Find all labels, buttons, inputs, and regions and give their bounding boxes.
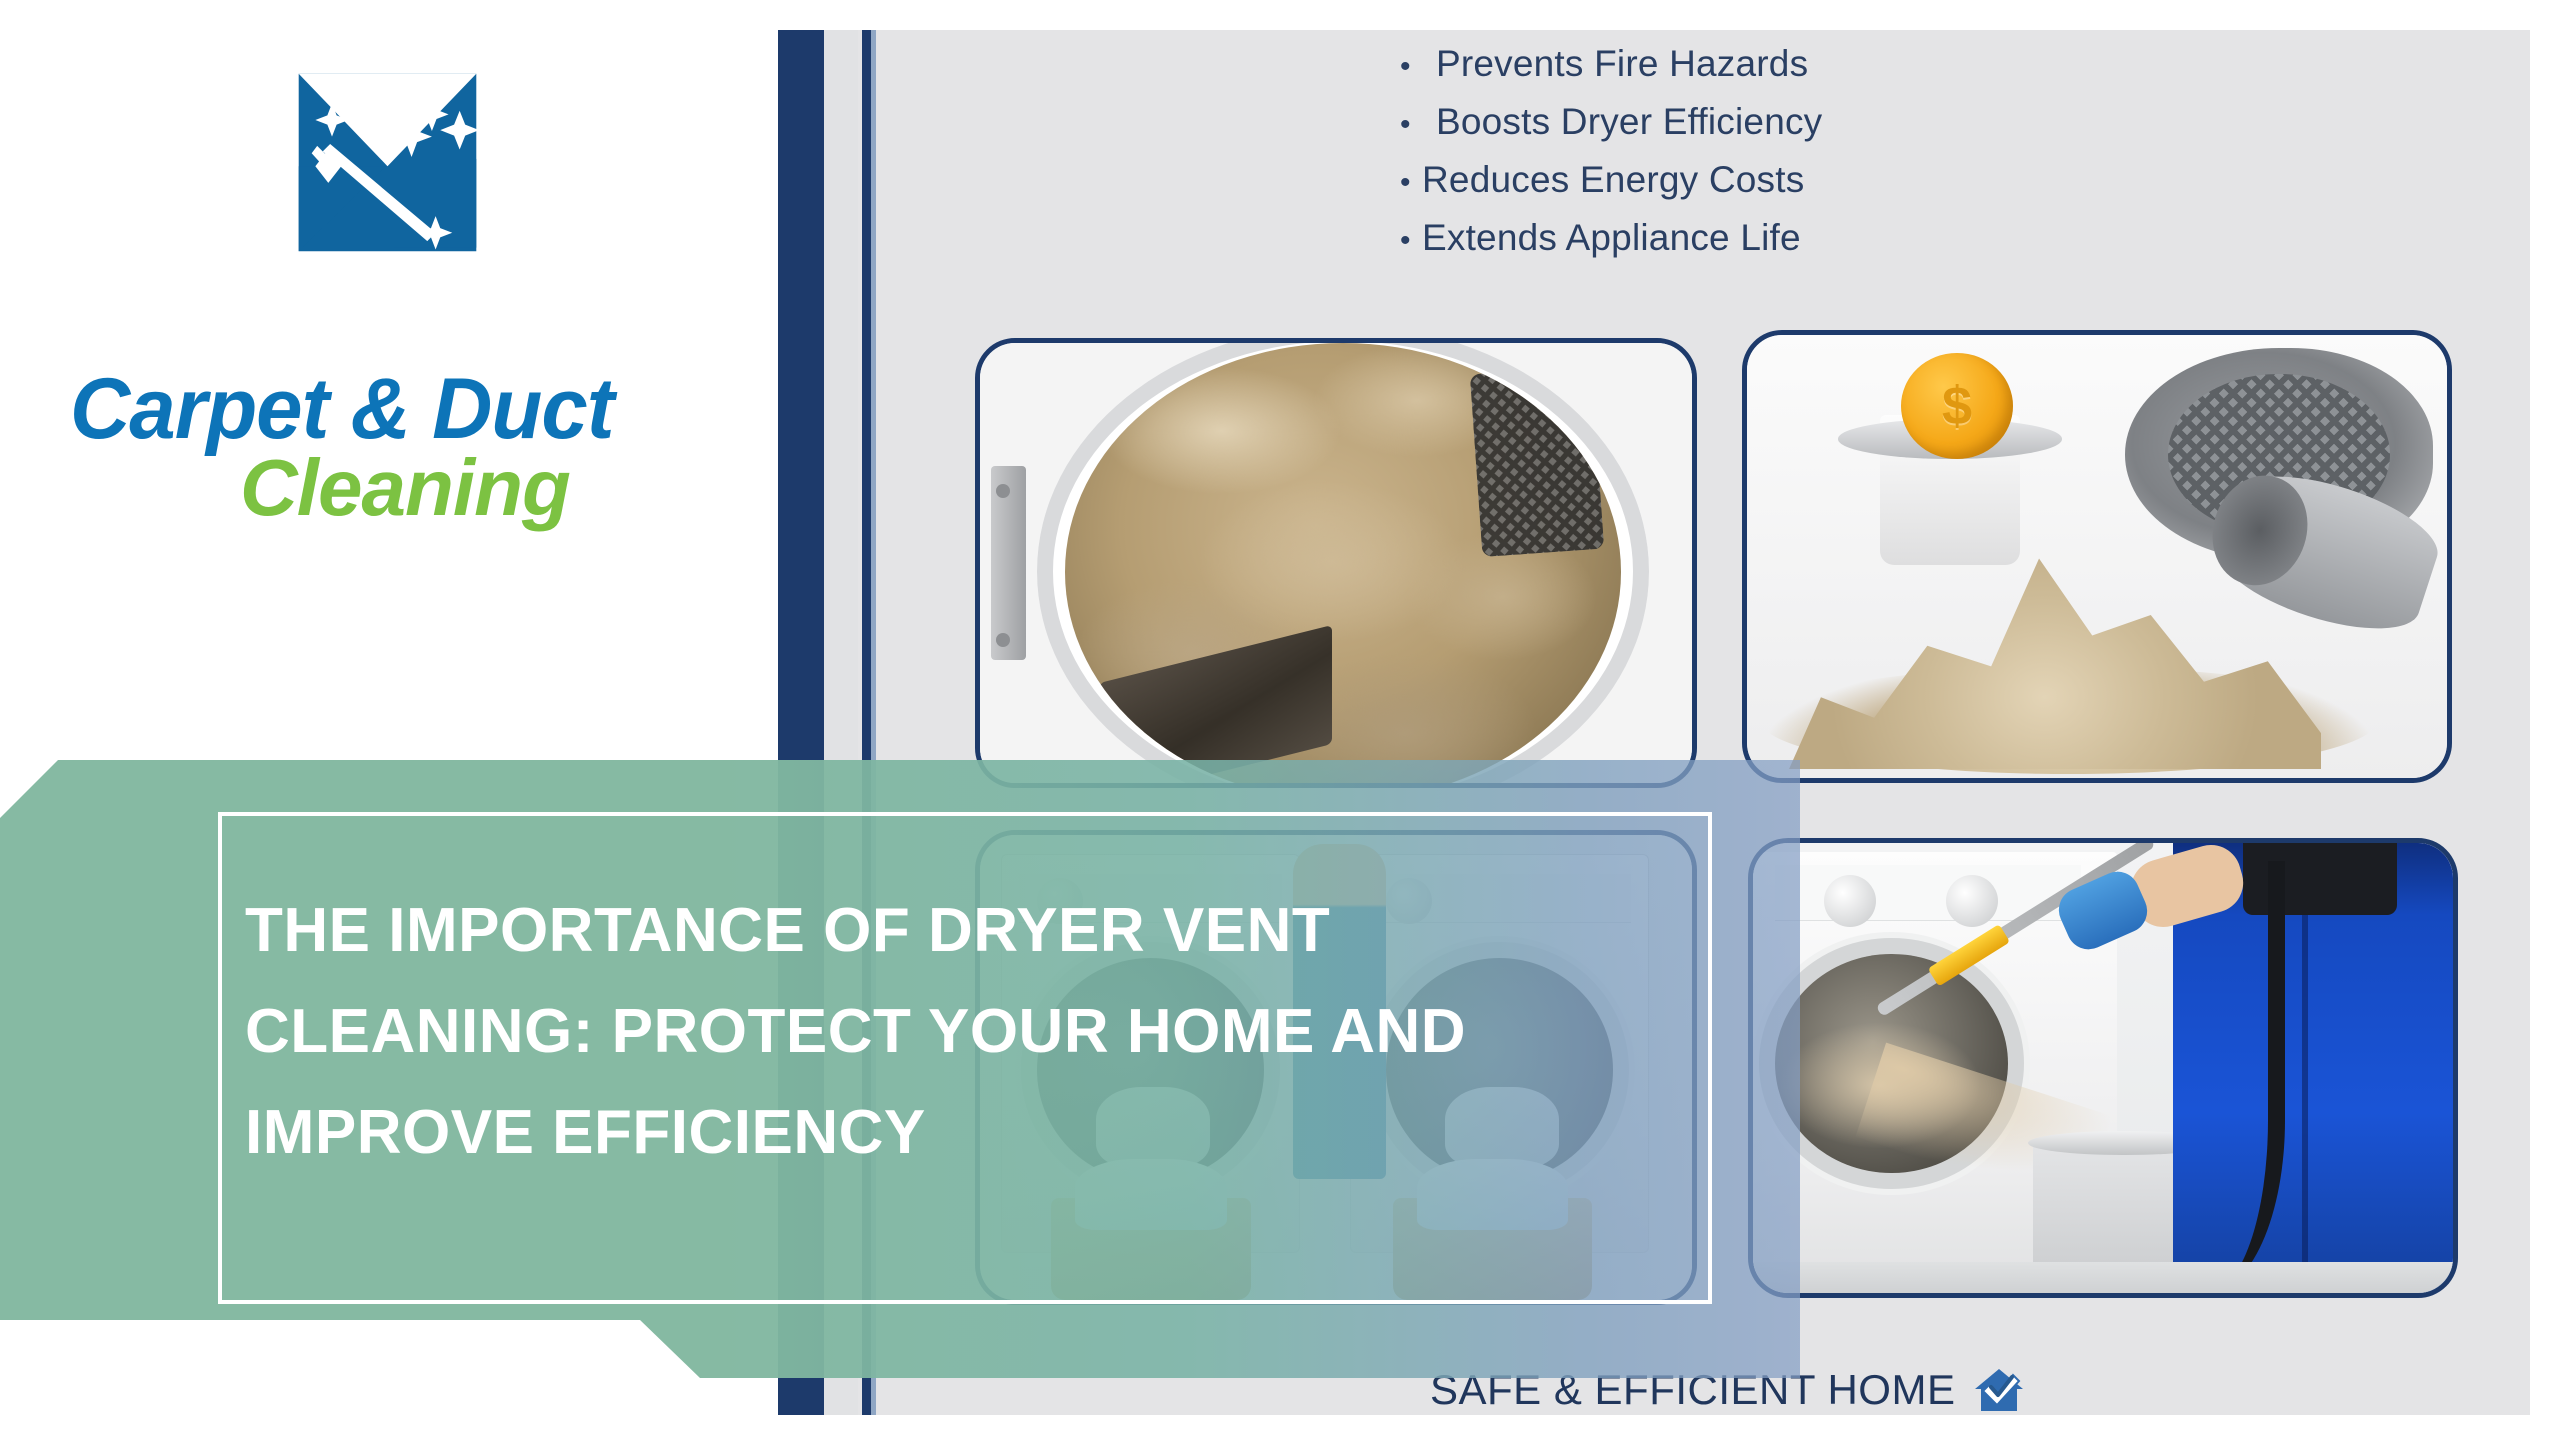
dollar-coin-icon: [1901, 353, 2013, 459]
benefit-item: • Extends Appliance Life: [1400, 210, 2020, 268]
lint-savings-photo: [1747, 335, 2447, 778]
vacuum-hose: [2156, 861, 2285, 1293]
bullet-dot-icon: •: [1400, 97, 1422, 152]
poster-canvas: • Prevents Fire Hazards • Boosts Dryer E…: [0, 0, 2560, 1440]
benefit-item: • Prevents Fire Hazards: [1400, 36, 2020, 94]
bullet-dot-icon: •: [1400, 155, 1422, 210]
bullet-dot-icon: •: [1400, 213, 1422, 268]
dryer-drum-photo: [980, 343, 1692, 783]
benefit-item: • Boosts Dryer Efficiency: [1400, 94, 2020, 152]
floor-baseboard: [1753, 1262, 2453, 1294]
benefit-label: Boosts Dryer Efficiency: [1422, 94, 2020, 149]
benefit-label: Prevents Fire Hazards: [1422, 36, 2020, 91]
photo-card-lint-pile-dollar-coin: [1742, 330, 2452, 783]
page-title: THE IMPORTANCE OF DRYER VENT CLEANING: P…: [245, 880, 1690, 1183]
squeegee-sparkle-square-icon: [295, 70, 480, 255]
benefit-label: Extends Appliance Life: [1422, 210, 2020, 265]
photo-card-dryer-drum-clogged-lint: [975, 338, 1697, 788]
brand-name-line2: Cleaning: [240, 442, 570, 534]
benefit-item: • Reduces Energy Costs: [1400, 152, 2020, 210]
benefit-label: Reduces Energy Costs: [1422, 152, 2020, 207]
house-check-icon: [1971, 1365, 2027, 1415]
benefits-list: • Prevents Fire Hazards • Boosts Dryer E…: [1400, 36, 2020, 268]
dryer-knob: [1824, 875, 1876, 927]
brand-logo: Carpet & Duct Cleaning: [40, 60, 740, 480]
hinge-screw: [996, 633, 1010, 647]
drum-mesh-vent: [1470, 366, 1605, 557]
photo-card-technician-vacuuming: [1748, 838, 2458, 1298]
technician-photo: [1753, 843, 2453, 1293]
hinge-screw: [996, 484, 1010, 498]
dryer-drum-opening: [1065, 343, 1620, 788]
bullet-dot-icon: •: [1400, 39, 1422, 94]
dryer-knob: [1946, 875, 1998, 927]
